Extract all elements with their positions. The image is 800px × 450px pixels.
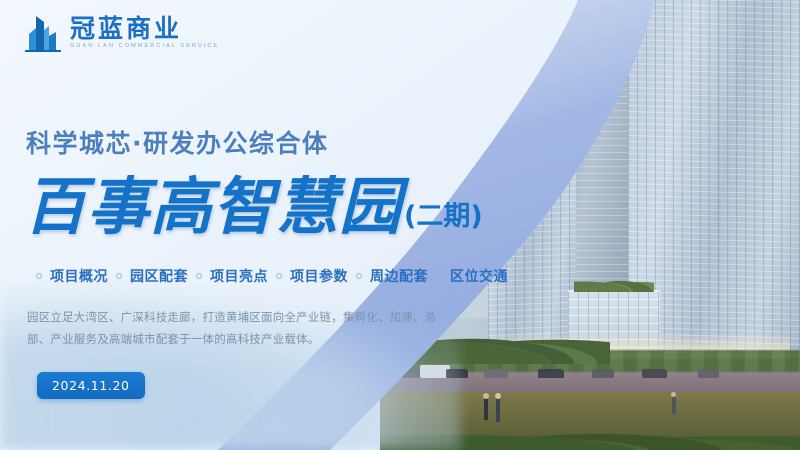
ring-bullet-icon xyxy=(276,273,282,279)
promo-banner: 冠蓝商业 GUAN LAN COMMERCIAL SERVICE 科学城芯·研发… xyxy=(0,0,800,450)
brand-name-en: GUAN LAN COMMERCIAL SERVICE xyxy=(70,43,219,49)
page-title-suffix: (二期) xyxy=(404,194,483,238)
section-nav: 项目概况园区配套项目亮点项目参数周边配套区位交通 xyxy=(28,266,508,286)
nav-item-4[interactable]: 项目参数 xyxy=(290,266,348,286)
brand-logo-text: 冠蓝商业 GUAN LAN COMMERCIAL SERVICE xyxy=(70,16,219,49)
car xyxy=(642,369,667,378)
brand-name-cn: 冠蓝商业 xyxy=(70,16,219,41)
content-panel: 冠蓝商业 GUAN LAN COMMERCIAL SERVICE 科学城芯·研发… xyxy=(0,0,560,450)
ring-bullet-icon xyxy=(36,273,42,279)
nav-item-3[interactable]: 项目亮点 xyxy=(210,266,268,286)
hero-description: 园区立足大湾区、广深科技走廊，打造黄埔区面向全产业链，集孵化、加速、总部、产业服… xyxy=(27,306,452,351)
car xyxy=(592,369,614,378)
nav-item-5[interactable]: 周边配套 xyxy=(370,266,428,286)
page-title: 百事高智慧园 xyxy=(24,176,402,238)
hero-subtitle: 科学城芯·研发办公综合体 xyxy=(26,124,329,160)
brand-logo[interactable]: 冠蓝商业 GUAN LAN COMMERCIAL SERVICE xyxy=(25,12,219,52)
ring-bullet-icon xyxy=(196,273,202,279)
ring-bullet-icon xyxy=(116,273,122,279)
nav-item-6[interactable]: 区位交通 xyxy=(450,266,508,286)
ring-bullet-icon xyxy=(356,273,362,279)
pedestrian xyxy=(672,396,676,414)
roof-garden-trees xyxy=(574,276,654,292)
ring-bullet-icon xyxy=(436,273,442,279)
date-badge: 2024.11.20 xyxy=(37,372,145,399)
nav-item-2[interactable]: 园区配套 xyxy=(130,266,188,286)
car xyxy=(698,369,719,378)
building-skyline-icon xyxy=(25,12,61,52)
hero-title-row: 百事高智慧园 (二期) xyxy=(24,176,483,238)
nav-item-1[interactable]: 项目概况 xyxy=(50,266,108,286)
